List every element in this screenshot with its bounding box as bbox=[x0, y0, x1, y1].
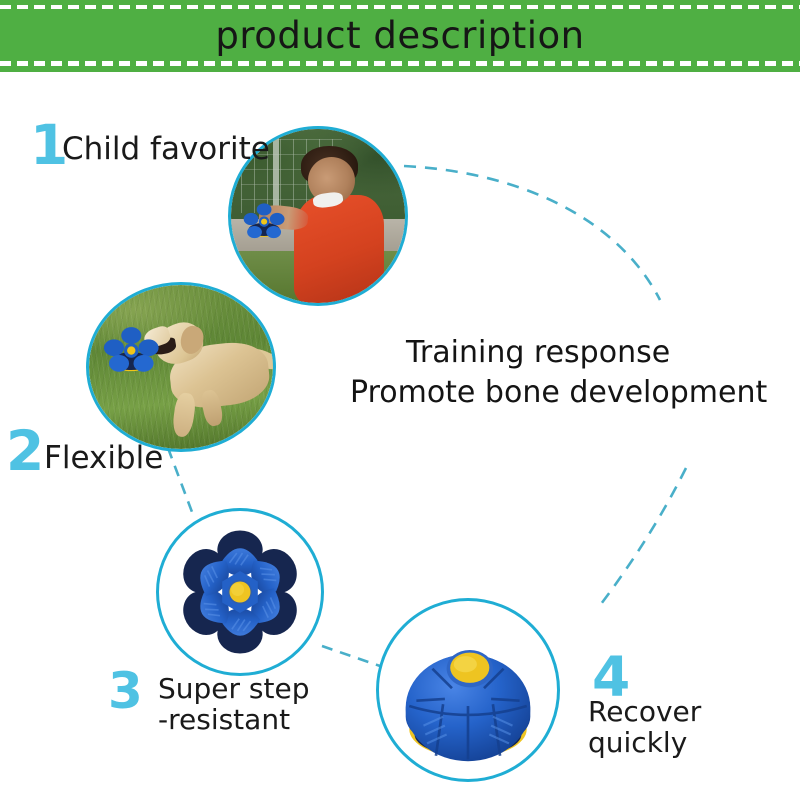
flattened-disc-art bbox=[159, 511, 321, 673]
flying-disc-in-hand bbox=[238, 199, 290, 243]
ball-form-art bbox=[379, 601, 557, 779]
page-title: product description bbox=[215, 14, 584, 57]
photo-circle-flexible bbox=[86, 282, 276, 452]
header-dashed-line-top bbox=[0, 5, 800, 9]
connector-line-dog-to-flat bbox=[168, 448, 192, 512]
dog-photo bbox=[89, 285, 273, 449]
product-description-infographic: product description bbox=[0, 0, 800, 800]
connector-arc-top-right bbox=[404, 166, 660, 300]
product-circle-super-step-resistant bbox=[156, 508, 324, 676]
connector-line-flat-to-ball bbox=[322, 646, 380, 666]
step-label-super-step-resistant: Super step -resistant bbox=[158, 673, 310, 736]
step-number-3: 3 bbox=[108, 666, 143, 716]
step-number-2: 2 bbox=[6, 424, 44, 479]
boy-shirt bbox=[294, 195, 384, 303]
step-label-child-favorite: Child favorite bbox=[62, 132, 270, 167]
center-headline: Training response Promote bone developme… bbox=[350, 333, 800, 412]
center-headline-line-1: Training response bbox=[350, 333, 800, 373]
step-label-flexible: Flexible bbox=[44, 441, 163, 476]
header-banner: product description bbox=[0, 0, 800, 72]
step-label-recover-quickly: Recover quickly bbox=[588, 696, 800, 759]
center-headline-line-2: Promote bone development bbox=[350, 373, 800, 413]
flying-disc-on-grass bbox=[100, 321, 163, 377]
header-dashed-line-bottom bbox=[0, 61, 800, 66]
product-circle-recover-quickly bbox=[376, 598, 560, 782]
connector-arc-bottom-right bbox=[598, 468, 686, 608]
